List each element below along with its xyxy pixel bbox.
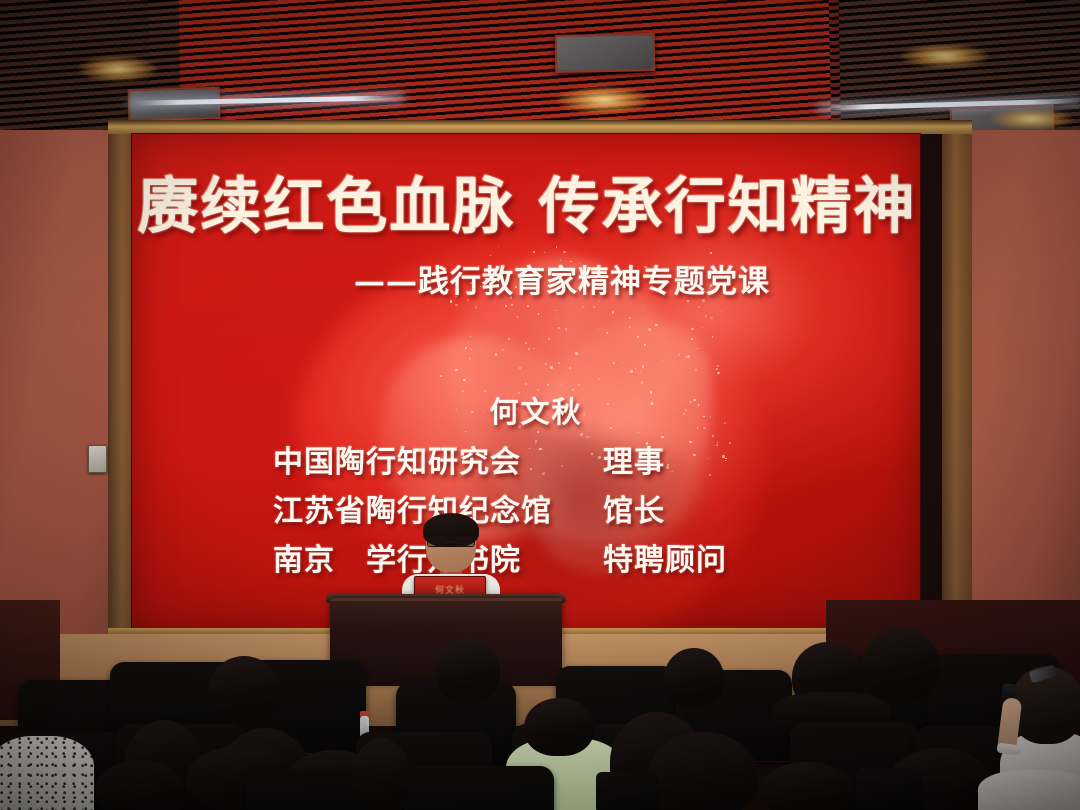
- glitter-particle: [508, 338, 510, 340]
- speaker-role-row: 中国陶行知研究会 理事: [132, 437, 921, 481]
- glitter-particle: [565, 328, 567, 330]
- glitter-particle: [635, 368, 636, 369]
- glitter-particle: [527, 305, 529, 307]
- glitter-particle: [695, 369, 697, 371]
- glitter-particle: [643, 309, 644, 310]
- glitter-particle: [575, 352, 578, 355]
- audience-head: [862, 628, 940, 702]
- glitter-particle: [687, 355, 689, 357]
- glitter-particle: [629, 326, 631, 328]
- glitter-particle: [550, 366, 553, 369]
- glitter-particle: [556, 246, 558, 248]
- glitter-particle: [721, 311, 722, 312]
- glitter-particle: [558, 362, 560, 364]
- org-prefix: 南京: [273, 543, 335, 578]
- glitter-particle: [710, 317, 712, 319]
- glitter-particle: [455, 369, 457, 371]
- glitter-particle: [498, 246, 499, 247]
- downlight-icon: [990, 108, 1074, 130]
- lecture-hall-photo: 赓续红色血脉 传承行知精神 ——践行教育家精神专题党课 何文秋 中国陶行知研究会…: [0, 0, 1080, 810]
- glitter-particle: [697, 348, 698, 349]
- audience-head: [524, 698, 594, 756]
- glitter-particle: [637, 336, 639, 338]
- glitter-particle: [475, 306, 477, 308]
- audience-torso-white: [978, 770, 1080, 810]
- glitter-particle: [698, 306, 700, 308]
- glitter-particle: [566, 330, 568, 332]
- glitter-particle: [545, 363, 547, 365]
- glasses-icon: [426, 537, 476, 547]
- glitter-particle: [495, 353, 497, 355]
- audience-torso-patterned: [0, 736, 94, 810]
- glitter-particle: [662, 360, 663, 361]
- glitter-particle: [613, 362, 615, 364]
- downlight-icon: [78, 56, 158, 82]
- glitter-particle: [533, 348, 535, 350]
- glitter-particle: [598, 378, 600, 380]
- wall-control-plate[interactable]: [88, 445, 107, 473]
- glitter-particle: [561, 384, 562, 385]
- handbag: [596, 772, 658, 810]
- glitter-particle: [505, 305, 507, 307]
- screen-top-trim: [108, 120, 972, 134]
- glitter-particle: [471, 349, 472, 350]
- glitter-particle: [548, 338, 550, 340]
- glitter-particle: [455, 304, 458, 307]
- glitter-particle: [582, 306, 584, 308]
- glitter-particle: [606, 332, 608, 334]
- glitter-particle: [544, 252, 545, 253]
- glitter-particle: [629, 317, 631, 319]
- speaker-name: 何文秋: [132, 389, 921, 431]
- glitter-particle: [691, 338, 693, 340]
- glitter-particle: [528, 348, 530, 350]
- glitter-particle: [469, 357, 472, 360]
- speaker-credentials-block: 何文秋 中国陶行知研究会 理事 江苏省陶行知纪念馆 馆长 南京大学行知书院 特聘…: [132, 389, 921, 584]
- glitter-particle: [558, 327, 560, 329]
- glitter-particle: [538, 313, 540, 315]
- glitter-particle: [623, 362, 625, 364]
- glitter-particle: [440, 375, 442, 377]
- glitter-particle: [702, 327, 703, 328]
- glitter-particle: [470, 336, 471, 337]
- handbag: [856, 768, 922, 810]
- glitter-particle: [678, 353, 681, 356]
- audience-area: [0, 620, 1080, 810]
- glitter-particle: [525, 342, 527, 344]
- glitter-particle: [569, 367, 571, 369]
- glitter-particle: [469, 380, 470, 381]
- glitter-particle: [563, 251, 566, 254]
- glitter-particle: [519, 367, 521, 369]
- led-display-screen: 赓续红色血脉 传承行知精神 ——践行教育家精神专题党课 何文秋 中国陶行知研究会…: [131, 133, 921, 634]
- glitter-particle: [630, 370, 633, 373]
- glitter-particle: [674, 365, 675, 366]
- ceiling-panel-center: [555, 33, 656, 73]
- audience-head: [352, 738, 410, 810]
- glitter-particle: [525, 383, 527, 385]
- glitter-particle: [463, 379, 466, 382]
- ceiling-slats-red-band: [148, 0, 831, 134]
- glitter-particle: [593, 306, 595, 308]
- glitter-particle: [612, 311, 615, 314]
- glitter-particle: [502, 349, 504, 351]
- glitter-particle: [642, 365, 645, 368]
- speaker-role-row: 江苏省陶行知纪念馆 馆长: [132, 486, 921, 530]
- glitter-particle: [555, 310, 556, 311]
- screen-title-main: 赓续红色血脉 传承行知精神: [132, 156, 921, 245]
- glitter-particle: [641, 381, 644, 384]
- glitter-particle: [710, 252, 712, 254]
- speaker-role-row: 南京大学行知书院 特聘顾问: [132, 535, 921, 579]
- glitter-particle: [648, 328, 651, 331]
- glitter-particle: [465, 347, 467, 349]
- glitter-particle: [655, 324, 658, 327]
- glitter-particle: [533, 251, 535, 253]
- audience-head: [760, 762, 854, 810]
- speaker-role-title: 理事: [603, 437, 793, 481]
- glitter-particle: [640, 372, 641, 373]
- glitter-particle: [554, 369, 555, 370]
- wall-pilaster-right: [942, 130, 972, 670]
- glitter-particle: [712, 336, 713, 337]
- ceiling: [0, 0, 1080, 134]
- speaker-role-title: 馆长: [603, 486, 793, 530]
- glitter-particle: [644, 344, 646, 346]
- glitter-particle: [716, 368, 719, 371]
- audience-head: [208, 656, 280, 728]
- glitter-particle: [598, 329, 599, 330]
- audience-head: [648, 732, 758, 810]
- glitter-particle: [578, 384, 580, 386]
- downlight-icon: [900, 44, 990, 68]
- glitter-particle: [691, 328, 693, 330]
- glitter-particle: [517, 316, 518, 317]
- glitter-particle: [556, 318, 557, 319]
- audience-head: [436, 638, 500, 704]
- seat: [404, 766, 554, 810]
- glitter-particle: [717, 372, 720, 375]
- glitter-particle: [705, 315, 707, 317]
- speaker-role-title: 特聘顾问: [603, 535, 793, 579]
- screen-title-subtitle: ——践行教育家精神专题党课: [132, 256, 921, 301]
- audience-head: [664, 648, 724, 708]
- downlight-icon: [556, 86, 652, 114]
- glitter-particle: [511, 304, 514, 307]
- glitter-particle: [547, 384, 549, 386]
- speaker-role-organization: 中国陶行知研究会: [273, 437, 603, 481]
